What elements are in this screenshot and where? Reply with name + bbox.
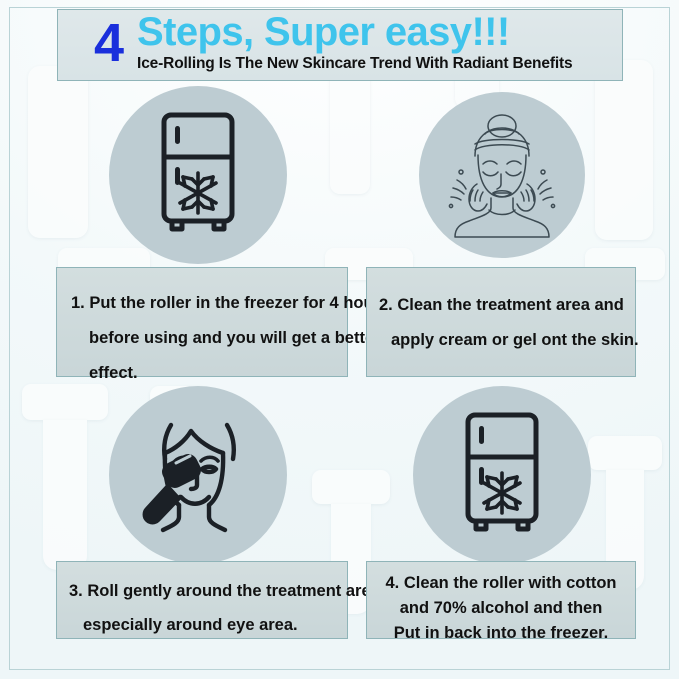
step-text-line: especially around eye area. bbox=[69, 608, 347, 642]
step-card-1: 1. Put the roller in the freezer for 4 h… bbox=[48, 81, 348, 381]
refrigerator-freezer-icon bbox=[142, 109, 254, 241]
step-text-line: 2. Clean the treatment area and bbox=[379, 288, 635, 323]
icon-circle bbox=[413, 386, 591, 564]
step-text-line: Put in back into the freezer. bbox=[375, 621, 627, 646]
step-4-text: 4. Clean the roller with cotton and 70% … bbox=[366, 561, 636, 639]
step-card-4: 4. Clean the roller with cotton and 70% … bbox=[366, 381, 638, 669]
face-ice-roller-icon bbox=[131, 411, 265, 539]
step-text-line: 3. Roll gently around the treatment area bbox=[69, 574, 347, 608]
step-card-2: 2. Clean the treatment area and apply cr… bbox=[366, 81, 638, 381]
icon-circle bbox=[109, 86, 287, 264]
step-card-3: 3. Roll gently around the treatment area… bbox=[48, 381, 348, 669]
step-2-text: 2. Clean the treatment area and apply cr… bbox=[366, 267, 636, 377]
header-banner: 4 Steps, Super easy!!! Ice-Rolling Is Th… bbox=[57, 9, 623, 81]
step-text-line: before using and you will get a better bbox=[71, 321, 347, 356]
step-3-text: 3. Roll gently around the treatment area… bbox=[56, 561, 348, 639]
steps-grid: 1. Put the roller in the freezer for 4 h… bbox=[0, 81, 679, 679]
step-2-icon-area bbox=[366, 81, 638, 269]
header-text-group: Steps, Super easy!!! Ice-Rolling Is The … bbox=[137, 12, 572, 73]
step-text-line: 1. Put the roller in the freezer for 4 h… bbox=[71, 286, 347, 321]
page-title: Steps, Super easy!!! bbox=[137, 12, 572, 54]
page-subtitle: Ice-Rolling Is The New Skincare Trend Wi… bbox=[137, 55, 572, 73]
step-text-line: apply cream or gel ont the skin. bbox=[379, 323, 635, 358]
step-4-icon-area bbox=[366, 381, 638, 569]
step-1-text: 1. Put the roller in the freezer for 4 h… bbox=[56, 267, 348, 377]
refrigerator-freezer-icon bbox=[446, 409, 558, 541]
step-count-number: 4 bbox=[94, 16, 123, 70]
step-1-icon-area bbox=[48, 81, 348, 269]
infographic-poster: 4 Steps, Super easy!!! Ice-Rolling Is Th… bbox=[0, 0, 679, 679]
icon-circle bbox=[109, 386, 287, 564]
step-text-line: 4. Clean the roller with cotton bbox=[375, 571, 627, 596]
icon-circle bbox=[419, 92, 585, 258]
step-text-line: and 70% alcohol and then bbox=[375, 596, 627, 621]
step-3-icon-area bbox=[48, 381, 348, 569]
woman-washing-face-icon bbox=[437, 110, 567, 240]
